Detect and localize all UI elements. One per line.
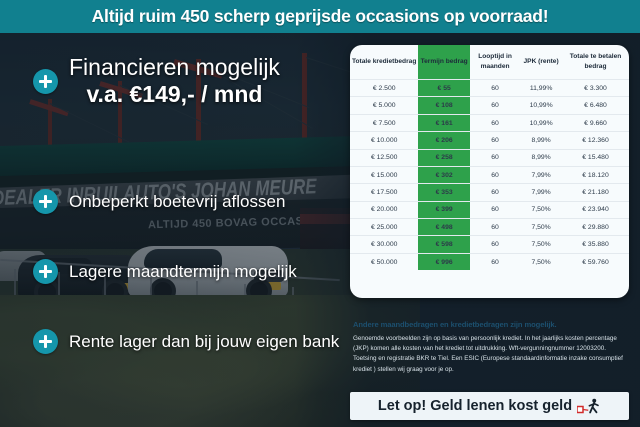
plus-circle-icon bbox=[33, 259, 58, 284]
table-row: € 10.000€ 206608,99%€ 12.360 bbox=[350, 132, 629, 149]
cell-rate: 8,99% bbox=[520, 132, 562, 149]
cell-rate: 7,50% bbox=[520, 219, 562, 236]
cell-installment: € 996 bbox=[418, 253, 470, 270]
cell-credit: € 17.500 bbox=[350, 184, 418, 201]
cell-rate: 8,99% bbox=[520, 149, 562, 166]
cell-rate: 10,99% bbox=[520, 97, 562, 114]
table-row: € 25.000€ 498607,50%€ 29.880 bbox=[350, 219, 629, 236]
cell-installment: € 498 bbox=[418, 219, 470, 236]
cell-months: 60 bbox=[470, 184, 520, 201]
cell-total: € 3.300 bbox=[562, 80, 629, 97]
benefit-item-lower-installment: Lagere maandtermijn mogelijk bbox=[33, 259, 297, 284]
cell-rate: 7,50% bbox=[520, 253, 562, 270]
credit-warning-bar: Let op! Geld lenen kost geld bbox=[350, 392, 629, 420]
cell-credit: € 5.000 bbox=[350, 97, 418, 114]
benefit-label: Rente lager dan bij jouw eigen bank bbox=[69, 332, 339, 352]
cell-months: 60 bbox=[470, 253, 520, 270]
column-header-installment: Termijn bedrag bbox=[418, 45, 470, 80]
cell-total: € 59.760 bbox=[562, 253, 629, 270]
cell-total: € 21.180 bbox=[562, 184, 629, 201]
cell-months: 60 bbox=[470, 149, 520, 166]
cell-credit: € 2.500 bbox=[350, 80, 418, 97]
table-row: € 30.000€ 598607,50%€ 35.880 bbox=[350, 236, 629, 253]
table-row: € 7.500€ 1616010,99%€ 9.660 bbox=[350, 114, 629, 131]
cell-months: 60 bbox=[470, 166, 520, 183]
table-row: € 20.000€ 399607,50%€ 23.940 bbox=[350, 201, 629, 218]
benefits-list: Financieren mogelijk v.a. €149,- / mnd O… bbox=[0, 33, 345, 427]
disclaimer-title: Andere maandbedragen en kredietbedragen … bbox=[353, 320, 625, 329]
cell-rate: 7,50% bbox=[520, 236, 562, 253]
credit-warning-text: Let op! Geld lenen kost geld bbox=[378, 398, 572, 414]
cell-rate: 10,99% bbox=[520, 114, 562, 131]
table-row: € 15.000€ 302607,99%€ 18.120 bbox=[350, 166, 629, 183]
column-header-rate: JPK (rente) bbox=[520, 45, 562, 80]
disclaimer-block: Andere maandbedragen en kredietbedragen … bbox=[353, 320, 625, 375]
benefit-item-financing: Financieren mogelijk v.a. €149,- / mnd bbox=[33, 55, 280, 107]
benefit-label: Onbeperkt boetevrij aflossen bbox=[69, 192, 285, 212]
headline-banner: Altijd ruim 450 scherp geprijsde occasio… bbox=[0, 0, 640, 33]
cell-months: 60 bbox=[470, 97, 520, 114]
cell-total: € 18.120 bbox=[562, 166, 629, 183]
cell-months: 60 bbox=[470, 114, 520, 131]
disclaimer-body: Genoemde voorbeelden zijn op basis van p… bbox=[353, 334, 625, 375]
cell-credit: € 20.000 bbox=[350, 201, 418, 218]
cell-credit: € 15.000 bbox=[350, 166, 418, 183]
cell-credit: € 10.000 bbox=[350, 132, 418, 149]
cell-installment: € 161 bbox=[418, 114, 470, 131]
ball-and-chain-runner-icon bbox=[577, 398, 601, 415]
cell-months: 60 bbox=[470, 132, 520, 149]
cell-installment: € 302 bbox=[418, 166, 470, 183]
table-row: € 12.500€ 258608,99%€ 15.480 bbox=[350, 149, 629, 166]
cell-total: € 12.360 bbox=[562, 132, 629, 149]
headline-text: Altijd ruim 450 scherp geprijsde occasio… bbox=[92, 6, 549, 27]
cell-rate: 7,99% bbox=[520, 166, 562, 183]
benefit-item-penalty-free: Onbeperkt boetevrij aflossen bbox=[33, 189, 285, 214]
benefit-label-line1: Financieren mogelijk bbox=[69, 55, 280, 81]
cell-installment: € 55 bbox=[418, 80, 470, 97]
cell-months: 60 bbox=[470, 219, 520, 236]
table-row: € 5.000€ 1086010,99%€ 6.480 bbox=[350, 97, 629, 114]
cell-installment: € 399 bbox=[418, 201, 470, 218]
cell-credit: € 7.500 bbox=[350, 114, 418, 131]
cell-total: € 23.940 bbox=[562, 201, 629, 218]
table-row: € 17.500€ 353607,99%€ 21.180 bbox=[350, 184, 629, 201]
table-header-row: Totale kredietbedrag Termijn bedrag Loop… bbox=[350, 45, 629, 80]
cell-months: 60 bbox=[470, 80, 520, 97]
cell-rate: 7,99% bbox=[520, 184, 562, 201]
cell-rate: 7,50% bbox=[520, 201, 562, 218]
rates-table-body: € 2.500€ 556011,99%€ 3.300 € 5.000€ 1086… bbox=[350, 80, 629, 271]
cell-total: € 35.880 bbox=[562, 236, 629, 253]
cell-credit: € 25.000 bbox=[350, 219, 418, 236]
column-header-duration: Looptijd in maanden bbox=[470, 45, 520, 80]
rates-table: Totale kredietbedrag Termijn bedrag Loop… bbox=[350, 45, 629, 270]
cell-total: € 29.880 bbox=[562, 219, 629, 236]
plus-circle-icon bbox=[33, 69, 58, 94]
cell-installment: € 108 bbox=[418, 97, 470, 114]
column-header-credit: Totale kredietbedrag bbox=[350, 45, 418, 80]
benefit-text-group: Financieren mogelijk v.a. €149,- / mnd bbox=[69, 55, 280, 107]
column-header-total: Totale te betalen bedrag bbox=[562, 45, 629, 80]
benefit-label-line2: v.a. €149,- / mnd bbox=[69, 81, 280, 107]
cell-total: € 6.480 bbox=[562, 97, 629, 114]
cell-total: € 15.480 bbox=[562, 149, 629, 166]
benefit-label: Lagere maandtermijn mogelijk bbox=[69, 262, 297, 282]
cell-installment: € 353 bbox=[418, 184, 470, 201]
cell-credit: € 30.000 bbox=[350, 236, 418, 253]
cell-credit: € 12.500 bbox=[350, 149, 418, 166]
advertisement-banner: DEALER INRUILAUTO'S JOHAN MEURE ALTIJD 4… bbox=[0, 0, 640, 427]
cell-months: 60 bbox=[470, 236, 520, 253]
cell-installment: € 258 bbox=[418, 149, 470, 166]
cell-months: 60 bbox=[470, 201, 520, 218]
cell-credit: € 50.000 bbox=[350, 253, 418, 270]
benefit-item-lower-rate: Rente lager dan bij jouw eigen bank bbox=[33, 329, 339, 354]
rates-card: Totale kredietbedrag Termijn bedrag Loop… bbox=[350, 45, 629, 298]
table-row: € 2.500€ 556011,99%€ 3.300 bbox=[350, 80, 629, 97]
cell-installment: € 206 bbox=[418, 132, 470, 149]
cell-rate: 11,99% bbox=[520, 80, 562, 97]
plus-circle-icon bbox=[33, 329, 58, 354]
cell-installment: € 598 bbox=[418, 236, 470, 253]
cell-total: € 9.660 bbox=[562, 114, 629, 131]
plus-circle-icon bbox=[33, 189, 58, 214]
table-row: € 50.000€ 996607,50%€ 59.760 bbox=[350, 253, 629, 270]
